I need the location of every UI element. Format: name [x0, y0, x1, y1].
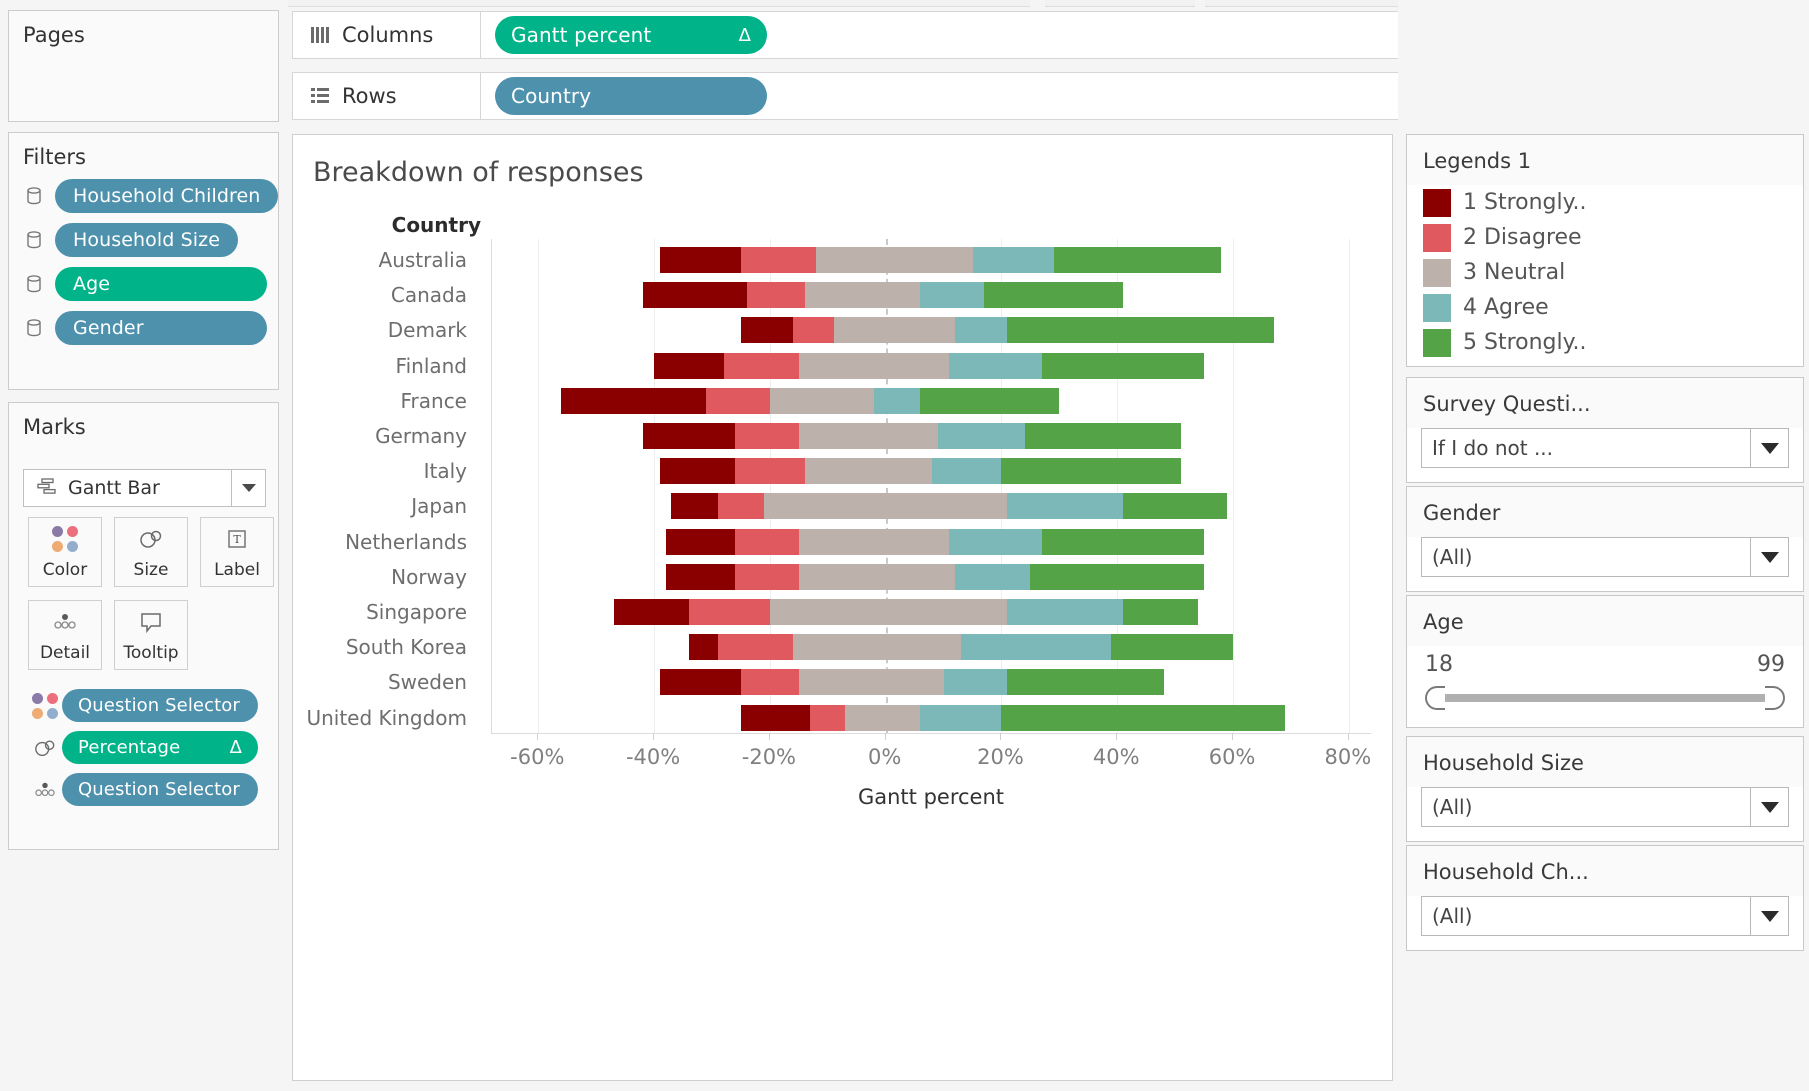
bar-segment[interactable] [770, 388, 874, 414]
row-label-canada: Canada [293, 285, 481, 305]
row-header-title: Country [293, 213, 481, 237]
bar-segment[interactable] [799, 353, 950, 379]
rows-shelf-label: Rows [293, 73, 481, 119]
household-children-dropdown[interactable]: (All) [1421, 896, 1789, 936]
detail-dots-icon [51, 608, 79, 636]
dropdown-value: If I do not ... [1422, 429, 1750, 467]
bar-row[interactable] [492, 282, 1372, 308]
bar-segment[interactable] [1001, 458, 1180, 484]
chevron-down-icon[interactable] [1750, 538, 1788, 576]
row-label-japan: Japan [293, 496, 481, 516]
filters-card: Filters Household Children Household Siz… [8, 132, 279, 390]
dropdown-wrap: (All) [1407, 896, 1803, 950]
legend-swatch-icon [1423, 259, 1451, 287]
gender-dropdown[interactable]: (All) [1421, 537, 1789, 577]
filter-item-gender[interactable]: Gender [9, 311, 278, 345]
marks-pill-color-question-selector[interactable]: Question Selector [28, 689, 258, 722]
filter-card-title: Age [1407, 596, 1803, 646]
bar-segment[interactable] [747, 282, 805, 308]
filter-card-household-children: Household Ch... (All) [1406, 845, 1804, 951]
bar-segment[interactable] [1123, 493, 1227, 519]
svg-text:T: T [233, 533, 241, 546]
tableau-worksheet: Pages Filters Household Children Househo… [0, 0, 1809, 1091]
row-label-netherlands: Netherlands [293, 532, 481, 552]
age-range-slider[interactable]: 18 99 [1407, 646, 1803, 727]
x-tick [653, 733, 654, 740]
delta-badge: Δ [739, 25, 751, 46]
legend-card: Legends 1 1 Strongly.. 2 Disagree 3 Neut… [1406, 134, 1804, 367]
tooltip-icon [138, 608, 164, 636]
columns-shelf-label: Columns [293, 12, 481, 58]
top-strip-right1 [1045, 0, 1195, 7]
bar-segment[interactable] [955, 564, 1030, 590]
bar-segment[interactable] [845, 705, 920, 731]
bar-segment[interactable] [741, 317, 793, 343]
marks-pill-size-percentage[interactable]: Percentage Δ [28, 731, 258, 764]
bar-segment[interactable] [614, 599, 689, 625]
left-panel: Pages Filters Household Children Househo… [0, 0, 288, 1091]
columns-pill[interactable]: Gantt percent Δ [495, 16, 767, 54]
x-tick [885, 733, 886, 740]
bar-row[interactable] [492, 388, 1372, 414]
bar-segment[interactable] [949, 529, 1042, 555]
legend-title: Legends 1 [1407, 135, 1803, 185]
bar-segment[interactable] [961, 634, 1112, 660]
bar-segment[interactable] [724, 353, 799, 379]
bar-segment[interactable] [949, 353, 1042, 379]
marks-tooltip-button[interactable]: Tooltip [114, 600, 188, 670]
filter-pill[interactable]: Household Children [55, 179, 278, 213]
legend-swatch-icon [1423, 329, 1451, 357]
row-label-sweden: Sweden [293, 672, 481, 692]
bar-segment[interactable] [799, 423, 938, 449]
dropdown-wrap: (All) [1407, 537, 1803, 591]
bar-segment[interactable] [671, 493, 717, 519]
filter-card-title: Household Ch... [1407, 846, 1803, 896]
legend-label: 4 Agree [1463, 295, 1549, 320]
bar-segment[interactable] [741, 705, 810, 731]
bar-segment[interactable] [1042, 353, 1204, 379]
row-label-germany: Germany [293, 426, 481, 446]
bar-segment[interactable] [874, 388, 920, 414]
bar-segment[interactable] [1025, 423, 1181, 449]
x-tick [537, 733, 538, 740]
bar-segment[interactable] [1111, 634, 1233, 660]
x-axis-line [491, 733, 1371, 734]
bar-segment[interactable] [816, 247, 972, 273]
x-tick-label: -20% [742, 745, 796, 769]
dropdown-wrap: If I do not ... [1407, 428, 1803, 482]
filter-card-title: Household Size [1407, 737, 1803, 787]
x-axis-title: Gantt percent [491, 785, 1371, 809]
chevron-down-icon[interactable] [1750, 429, 1788, 467]
top-strip-mid [175, 0, 1030, 7]
columns-icon [310, 26, 330, 44]
bar-row[interactable] [492, 247, 1372, 273]
bar-segment[interactable] [938, 423, 1025, 449]
legend-swatch-icon [1423, 294, 1451, 322]
bar-row[interactable] [492, 529, 1372, 555]
marks-detail-button[interactable]: Detail [28, 600, 102, 670]
legend-item[interactable]: 2 Disagree [1407, 220, 1803, 255]
x-tick [1000, 733, 1001, 740]
x-tick-label: 40% [1093, 745, 1140, 769]
legend-items: 1 Strongly.. 2 Disagree 3 Neutral 4 Agre… [1407, 185, 1803, 366]
marks-label-label: Label [214, 560, 260, 580]
filter-card-title: Gender [1407, 487, 1803, 537]
x-tick [1116, 733, 1117, 740]
age-min-value: 18 [1425, 652, 1453, 677]
bar-segment[interactable] [932, 458, 1001, 484]
x-tick-label: -40% [626, 745, 680, 769]
filter-pill[interactable]: Gender [55, 311, 267, 345]
size-circles-icon [137, 525, 165, 553]
bar-segment[interactable] [735, 423, 799, 449]
legend-swatch-icon [1423, 224, 1451, 252]
bar-segment[interactable] [654, 353, 723, 379]
row-label-finland: Finland [293, 356, 481, 376]
filter-item-household-size[interactable]: Household Size [9, 223, 278, 257]
row-label-demark: Demark [293, 320, 481, 340]
visualization-panel: Breakdown of responses Country Australia… [292, 134, 1393, 1081]
columns-text: Columns [342, 23, 433, 47]
mark-type-selector[interactable]: Gantt Bar [23, 469, 266, 507]
row-label-france: France [293, 391, 481, 411]
legend-label: 5 Strongly.. [1463, 330, 1587, 355]
legend-item[interactable]: 1 Strongly.. [1407, 185, 1803, 220]
bar-segment[interactable] [735, 458, 804, 484]
pages-title: Pages [9, 11, 278, 47]
bar-segment[interactable] [1123, 599, 1198, 625]
bar-segment[interactable] [770, 599, 1007, 625]
filter-card-title: Survey Questi... [1407, 378, 1803, 428]
bar-segment[interactable] [666, 564, 735, 590]
database-icon [23, 229, 45, 251]
row-label-italy: Italy [293, 461, 481, 481]
bar-segment[interactable] [741, 669, 799, 695]
marks-detail-label: Detail [40, 643, 90, 663]
filter-card-survey-question: Survey Questi... If I do not ... [1406, 377, 1804, 483]
marks-pill-label[interactable]: Percentage Δ [62, 731, 258, 764]
filter-card-gender: Gender (All) [1406, 486, 1804, 592]
bar-row[interactable] [492, 423, 1372, 449]
bar-segment[interactable] [1007, 669, 1163, 695]
row-label-united-kingdom: United Kingdom [293, 708, 481, 728]
bar-segment[interactable] [944, 669, 1008, 695]
bar-segment[interactable] [793, 634, 961, 660]
color-dots-icon [52, 525, 78, 553]
legend-label: 2 Disagree [1463, 225, 1582, 250]
row-label-norway: Norway [293, 567, 481, 587]
color-dots-icon [28, 693, 62, 719]
marks-pill-text: Percentage [78, 737, 180, 758]
bar-segment[interactable] [920, 388, 1059, 414]
marks-size-button[interactable]: Size [114, 517, 188, 587]
legend-label: 3 Neutral [1463, 260, 1565, 285]
bar-row[interactable] [492, 317, 1372, 343]
plot-area[interactable] [491, 239, 1371, 733]
filters-title: Filters [9, 133, 278, 169]
legend-swatch-icon [1423, 189, 1451, 217]
filter-pill[interactable]: Household Size [55, 223, 238, 257]
legend-label: 1 Strongly.. [1463, 190, 1587, 215]
bar-segment[interactable] [805, 458, 932, 484]
marks-color-label: Color [43, 560, 87, 580]
x-tick-label: 80% [1324, 745, 1371, 769]
x-tick [1232, 733, 1233, 740]
bar-row[interactable] [492, 705, 1372, 731]
x-tick-label: 0% [868, 745, 901, 769]
chart-title: Breakdown of responses [313, 157, 644, 188]
bar-segment[interactable] [1007, 599, 1123, 625]
bar-segment[interactable] [834, 317, 956, 343]
slider-handle-right[interactable] [1765, 686, 1785, 710]
marks-color-button[interactable]: Color [28, 517, 102, 587]
bar-segment[interactable] [1007, 317, 1273, 343]
marks-size-label: Size [134, 560, 169, 580]
x-tick-label: 60% [1209, 745, 1256, 769]
bar-segment[interactable] [984, 282, 1123, 308]
bar-segment[interactable] [920, 705, 1001, 731]
bar-row[interactable] [492, 669, 1372, 695]
survey-question-dropdown[interactable]: If I do not ... [1421, 428, 1789, 468]
bar-segment[interactable] [805, 282, 921, 308]
bar-row[interactable] [492, 564, 1372, 590]
age-max-value: 99 [1757, 652, 1785, 677]
bar-segment[interactable] [689, 634, 718, 660]
bar-segment[interactable] [666, 529, 735, 555]
chevron-down-icon[interactable] [1750, 897, 1788, 935]
bar-segment[interactable] [1042, 529, 1204, 555]
bar-segment[interactable] [735, 529, 799, 555]
chevron-down-icon[interactable] [231, 470, 265, 506]
bar-row[interactable] [492, 353, 1372, 379]
bar-segment[interactable] [799, 564, 955, 590]
bar-segment[interactable] [718, 493, 764, 519]
age-range-values: 18 99 [1425, 652, 1785, 677]
bar-segment[interactable] [643, 282, 747, 308]
filters-list: Household Children Household Size Age [9, 179, 278, 345]
x-tick-label: 20% [977, 745, 1024, 769]
bar-segment[interactable] [973, 247, 1054, 273]
bar-segment[interactable] [741, 247, 816, 273]
database-icon [23, 317, 45, 339]
row-label-south-korea: South Korea [293, 637, 481, 657]
bar-segment[interactable] [1007, 493, 1123, 519]
bar-row[interactable] [492, 458, 1372, 484]
bar-segment[interactable] [799, 669, 944, 695]
slider-bar [1435, 694, 1775, 702]
marks-pill-label[interactable]: Question Selector [62, 773, 258, 806]
bar-segment[interactable] [1030, 564, 1204, 590]
gantt-bar-icon [36, 478, 58, 498]
chevron-down-icon[interactable] [1750, 788, 1788, 826]
delta-badge: Δ [230, 737, 242, 758]
bar-segment[interactable] [793, 317, 834, 343]
bar-segment[interactable] [1054, 247, 1222, 273]
marks-tooltip-label: Tooltip [123, 643, 178, 663]
x-tick [769, 733, 770, 740]
x-tick [1348, 733, 1349, 740]
legend-item[interactable]: 3 Neutral [1407, 255, 1803, 290]
bar-segment[interactable] [955, 317, 1007, 343]
bar-segment[interactable] [764, 493, 1007, 519]
bar-row[interactable] [492, 599, 1372, 625]
bar-segment[interactable] [920, 282, 984, 308]
dropdown-wrap: (All) [1407, 787, 1803, 841]
legend-item[interactable]: 4 Agree [1407, 290, 1803, 325]
detail-dots-icon [28, 780, 62, 800]
filter-item-household-children[interactable]: Household Children [9, 179, 278, 213]
bar-segment[interactable] [660, 247, 741, 273]
database-icon [23, 185, 45, 207]
bar-segment[interactable] [810, 705, 845, 731]
database-icon [23, 273, 45, 295]
bar-segment[interactable] [1001, 705, 1285, 731]
marks-title: Marks [9, 403, 278, 439]
bar-row[interactable] [492, 634, 1372, 660]
marks-card: Marks Gantt Bar Color [8, 402, 279, 850]
size-circles-icon [28, 737, 62, 759]
bar-row[interactable] [492, 493, 1372, 519]
bar-segment[interactable] [660, 669, 741, 695]
bar-segment[interactable] [718, 634, 793, 660]
row-label-singapore: Singapore [293, 602, 481, 622]
plot-wrapper: AustraliaCanadaDemarkFinlandFranceGerman… [293, 239, 1394, 739]
bar-segment[interactable] [689, 599, 770, 625]
right-panel: Legends 1 1 Strongly.. 2 Disagree 3 Neut… [1398, 0, 1809, 1091]
columns-pill-text: Gantt percent [511, 23, 651, 47]
bar-segment[interactable] [706, 388, 770, 414]
bar-segment[interactable] [643, 423, 736, 449]
filter-card-age: Age 18 99 [1406, 595, 1804, 728]
bar-segment[interactable] [799, 529, 950, 555]
rows-icon [310, 87, 330, 105]
dropdown-value: (All) [1422, 897, 1750, 935]
filter-pill[interactable]: Age [55, 267, 267, 301]
slider-handle-left[interactable] [1425, 686, 1445, 710]
dropdown-value: (All) [1422, 788, 1750, 826]
row-label-australia: Australia [293, 250, 481, 270]
marks-label-button[interactable]: T Label [200, 517, 274, 587]
slider-track[interactable] [1425, 685, 1785, 711]
rows-pill[interactable]: Country [495, 77, 767, 115]
legend-item[interactable]: 5 Strongly.. [1407, 325, 1803, 360]
x-tick-label: -60% [510, 745, 564, 769]
bar-segment[interactable] [660, 458, 735, 484]
marks-pill-detail-question-selector[interactable]: Question Selector [28, 773, 258, 806]
pages-card: Pages [8, 10, 279, 122]
text-label-icon: T [225, 525, 249, 553]
filter-item-age[interactable]: Age [9, 267, 278, 301]
marks-pill-label[interactable]: Question Selector [62, 689, 258, 722]
bar-segment[interactable] [561, 388, 706, 414]
filter-card-household-size: Household Size (All) [1406, 736, 1804, 842]
mark-type-label: Gantt Bar [68, 477, 231, 499]
household-size-dropdown[interactable]: (All) [1421, 787, 1789, 827]
dropdown-value: (All) [1422, 538, 1750, 576]
rows-text: Rows [342, 84, 397, 108]
bar-segment[interactable] [735, 564, 799, 590]
